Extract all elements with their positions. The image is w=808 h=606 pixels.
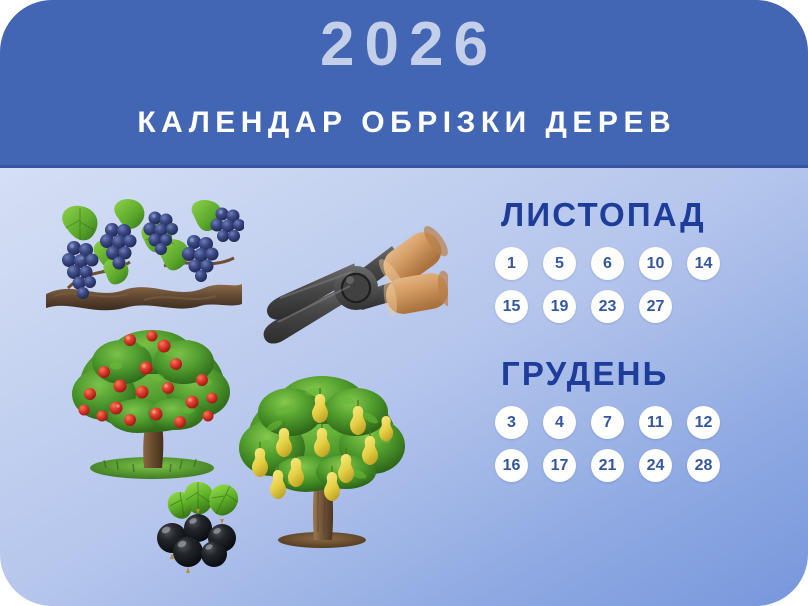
day-badge[interactable]: 19 [543,290,576,323]
day-row: 15 19 23 27 [495,290,770,323]
months-list: ЛИСТОПАД 1 5 6 10 14 15 19 23 27 ГРУДЕНЬ… [495,198,770,516]
pruning-calendar-poster: 2026 КАЛЕНДАР ОБРІЗКИ ДЕРЕВ [0,0,808,606]
day-badge[interactable]: 1 [495,247,528,280]
month-title-november: ЛИСТОПАД [501,198,770,231]
month-title-december: ГРУДЕНЬ [501,357,770,390]
day-row: 3 4 7 11 12 [495,406,770,439]
day-badge[interactable]: 21 [591,449,624,482]
day-badge[interactable]: 10 [639,247,672,280]
day-badge[interactable]: 6 [591,247,624,280]
day-badge[interactable]: 14 [687,247,720,280]
day-badge[interactable]: 4 [543,406,576,439]
day-badge[interactable]: 12 [687,406,720,439]
grapevine-illustration [44,196,244,316]
day-badge[interactable]: 27 [639,290,672,323]
day-badge[interactable]: 11 [639,406,672,439]
poster-year: 2026 [0,14,808,76]
blackcurrant-illustration [140,476,260,576]
day-badge[interactable]: 5 [543,247,576,280]
day-badge[interactable]: 15 [495,290,528,323]
pear-tree-illustration [234,372,414,550]
day-row: 1 5 6 10 14 [495,247,770,280]
day-badge[interactable]: 23 [591,290,624,323]
poster-title: КАЛЕНДАР ОБРІЗКИ ДЕРЕВ [0,108,808,138]
month-block-december: ГРУДЕНЬ 3 4 7 11 12 16 17 21 24 28 [495,357,770,482]
day-row: 16 17 21 24 28 [495,449,770,482]
day-badge[interactable]: 17 [543,449,576,482]
month-block-november: ЛИСТОПАД 1 5 6 10 14 15 19 23 27 [495,198,770,323]
day-badge[interactable]: 24 [639,449,672,482]
day-badge[interactable]: 3 [495,406,528,439]
poster-header-band: 2026 КАЛЕНДАР ОБРІЗКИ ДЕРЕВ [0,0,808,168]
day-badge[interactable]: 28 [687,449,720,482]
day-badge[interactable]: 16 [495,449,528,482]
pruning-shears-illustration [258,218,448,358]
apple-tree-illustration [60,322,240,482]
day-badge[interactable]: 7 [591,406,624,439]
